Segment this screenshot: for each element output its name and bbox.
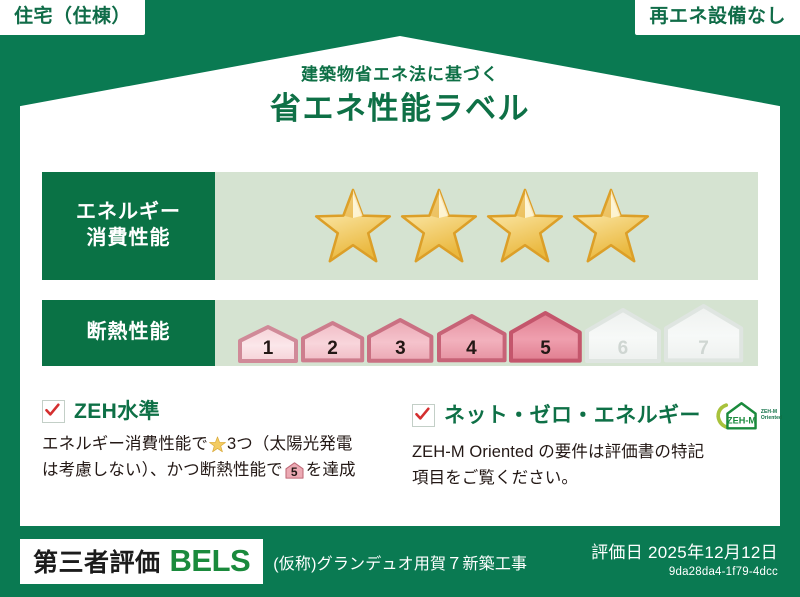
title-main: 省エネ性能ラベル xyxy=(0,92,800,126)
criteria-zeh-header: ZEH水準 xyxy=(42,400,402,423)
insulation-grade-number: 6 xyxy=(584,339,662,358)
evaluation-date: 評価日 2025年12月12日 xyxy=(591,543,778,563)
insulation-performance-label: 断熱性能 xyxy=(42,300,215,366)
insulation-grade-2: 2 xyxy=(300,320,365,363)
insulation-grade-6: 6 xyxy=(584,307,662,364)
evaluation-id: 9da28da4-1f79-4dcc xyxy=(591,566,778,580)
energy-performance-row: エネルギー 消費性能 xyxy=(42,172,758,280)
house-grade-icon-inline: 5 xyxy=(285,462,304,479)
insulation-grade-number: 1 xyxy=(237,339,299,358)
zeh-m-caption-line2: Oriented xyxy=(761,416,782,422)
bels-prefix-label: 第三者評価 xyxy=(33,551,161,576)
insulation-performance-row: 断熱性能 1234567 xyxy=(42,300,758,366)
insulation-grade-4: 4 xyxy=(436,313,508,363)
badge-building-type: 住宅（住棟） xyxy=(0,0,145,35)
energy-label-line1: エネルギー xyxy=(76,200,181,226)
criteria-zeh-text-2: 3つ（太陽光発電 xyxy=(227,435,352,453)
insulation-grade-number: 7 xyxy=(663,339,744,358)
title-subtitle: 建築物省エネ法に基づく xyxy=(0,66,800,85)
insulation-grade-3: 3 xyxy=(366,317,434,364)
insulation-grade-scale: 1234567 xyxy=(215,298,744,369)
evaluation-info: 評価日 2025年12月12日 9da28da4-1f79-4dcc xyxy=(591,543,778,579)
criteria-zeh-text-3: は考慮しない）、かつ断熱性能で xyxy=(42,461,283,479)
zeh-m-house-icon: ZEH-M xyxy=(714,400,758,431)
insulation-grade-7: 7 xyxy=(663,303,744,363)
star-icon xyxy=(571,187,651,265)
house-grade-number-inline: 5 xyxy=(285,466,304,478)
bels-badge: 第三者評価 BELS xyxy=(20,539,263,584)
insulation-performance-value: 1234567 xyxy=(215,300,758,366)
zeh-m-logo: ZEH-M ZEH-M Oriented xyxy=(714,400,782,431)
zeh-m-caption: ZEH-M Oriented xyxy=(761,410,782,422)
insulation-grade-5: 5 xyxy=(508,310,583,364)
criteria-zeh-text-1: エネルギー消費性能で xyxy=(42,435,208,453)
energy-performance-label: エネルギー 消費性能 xyxy=(42,172,215,280)
page-title: 建築物省エネ法に基づく 省エネ性能ラベル xyxy=(0,66,800,126)
criteria-zeh-body: エネルギー消費性能で 3つ（太陽光発電 は考慮しない）、かつ断熱性能で 5 を達… xyxy=(42,432,402,483)
criteria-zeh-text-4: を達成 xyxy=(306,461,356,479)
criteria-section: ZEH水準 エネルギー消費性能で 3つ（太陽光発電 は考慮しない）、かつ断熱性能… xyxy=(42,400,762,491)
svg-text:ZEH-M: ZEH-M xyxy=(727,415,756,425)
criteria-zeh-title: ZEH水準 xyxy=(74,401,160,422)
building-name: (仮称)グランデュオ用賀７新築工事 xyxy=(273,550,527,574)
insulation-label-text: 断熱性能 xyxy=(87,320,171,346)
badge-renewable-equipment: 再エネ設備なし xyxy=(635,0,800,35)
insulation-grade-number: 3 xyxy=(366,339,434,358)
insulation-grade-number: 4 xyxy=(436,339,508,358)
criteria-net-zero: ネット・ゼロ・エネルギー ZEH-M ZEH-M Oriented xyxy=(402,400,782,491)
criteria-net-zero-title: ネット・ゼロ・エネルギー xyxy=(444,405,701,426)
criteria-net-zero-line1: ZEH-M Oriented の要件は評価書の特記 xyxy=(412,440,782,466)
insulation-grade-number: 5 xyxy=(508,339,583,358)
star-rating xyxy=(215,187,651,265)
footer-bar: 第三者評価 BELS (仮称)グランデュオ用賀７新築工事 評価日 2025年12… xyxy=(0,526,800,597)
energy-label-line2: 消費性能 xyxy=(87,226,171,252)
criteria-net-zero-header: ネット・ゼロ・エネルギー ZEH-M ZEH-M Oriented xyxy=(412,400,782,431)
criteria-net-zero-body: ZEH-M Oriented の要件は評価書の特記 項目をご覧ください。 xyxy=(412,440,782,491)
check-icon xyxy=(412,404,435,427)
bels-mark-label: BELS xyxy=(170,545,251,576)
check-icon xyxy=(42,400,65,423)
star-icon xyxy=(313,187,393,265)
insulation-grade-number: 2 xyxy=(300,339,365,358)
insulation-grade-1: 1 xyxy=(237,324,299,364)
star-icon xyxy=(485,187,565,265)
criteria-zeh: ZEH水準 エネルギー消費性能で 3つ（太陽光発電 は考慮しない）、かつ断熱性能… xyxy=(42,400,402,491)
star-icon-inline xyxy=(209,436,226,453)
criteria-net-zero-line2: 項目をご覧ください。 xyxy=(412,466,782,492)
star-icon xyxy=(399,187,479,265)
energy-performance-value xyxy=(215,172,758,280)
energy-performance-label: 住宅（住棟） 再エネ設備なし 建築物省エネ法に基づく 省エネ性能ラベル エネルギ… xyxy=(0,0,800,597)
